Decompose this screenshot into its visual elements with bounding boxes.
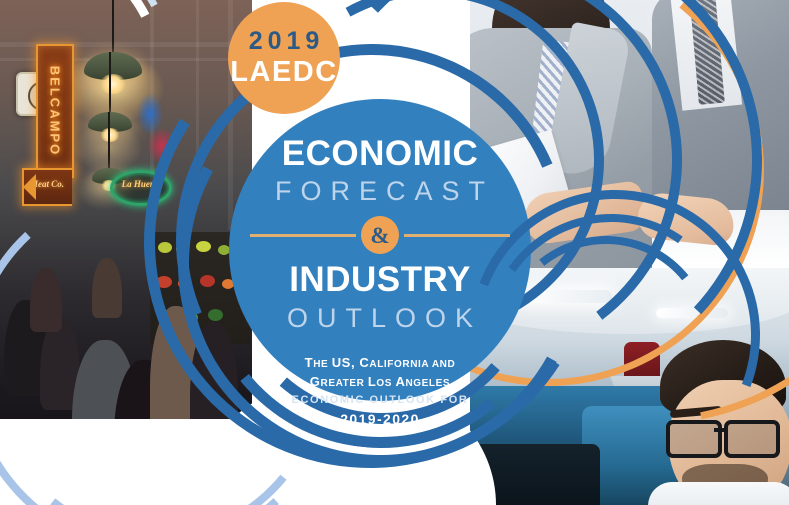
crowd-person bbox=[30, 268, 62, 332]
cover-subtitle: THE US, CALIFORNIA AND GREATER LOS ANGEL… bbox=[292, 354, 469, 430]
crowd-person bbox=[92, 258, 122, 318]
neon-oval-label: La Huerta bbox=[113, 180, 169, 189]
engineer-glasses bbox=[666, 420, 789, 450]
laedc-year-badge: 2019 LAEDC bbox=[228, 2, 340, 114]
belcampo-sub-text: Meat Co. bbox=[30, 180, 64, 189]
title-economic: ECONOMIC bbox=[282, 136, 479, 171]
belcampo-arrow: Meat Co. bbox=[22, 168, 72, 206]
belcampo-sign-text: BELCAMPO bbox=[49, 66, 62, 156]
engineer-shirt bbox=[648, 482, 789, 505]
report-cover: BELCAMPO Meat Co. La Huerta bbox=[0, 0, 789, 505]
ampersand-badge: & bbox=[361, 216, 399, 254]
badge-org-name: LAEDC bbox=[230, 58, 337, 87]
title-industry: INDUSTRY bbox=[289, 262, 471, 297]
cover-title-block: ECONOMIC FORECAST & INDUSTRY OUTLOOK THE… bbox=[229, 99, 531, 401]
subtitle-line-1: THE US, CALIFORNIA AND bbox=[292, 354, 469, 373]
divider-rule-right bbox=[404, 234, 510, 237]
title-outlook: OUTLOOK bbox=[278, 305, 482, 332]
divider-rule-left bbox=[250, 234, 356, 237]
subtitle-line-4: 2019-2020 bbox=[292, 409, 469, 430]
belcampo-neon-sign: BELCAMPO bbox=[36, 44, 74, 178]
ampersand-divider: & bbox=[244, 216, 516, 254]
neon-oval-sign: La Huerta bbox=[110, 170, 172, 206]
factory-ceiling-light bbox=[656, 308, 728, 318]
subtitle-line-3: ECONOMIC OUTLOOK FOR bbox=[292, 392, 469, 409]
badge-year: 2019 bbox=[244, 29, 325, 54]
neon-figure-sign bbox=[128, 88, 186, 174]
title-forecast: FORECAST bbox=[266, 178, 494, 205]
subtitle-line-2: GREATER LOS ANGELES bbox=[292, 373, 469, 392]
